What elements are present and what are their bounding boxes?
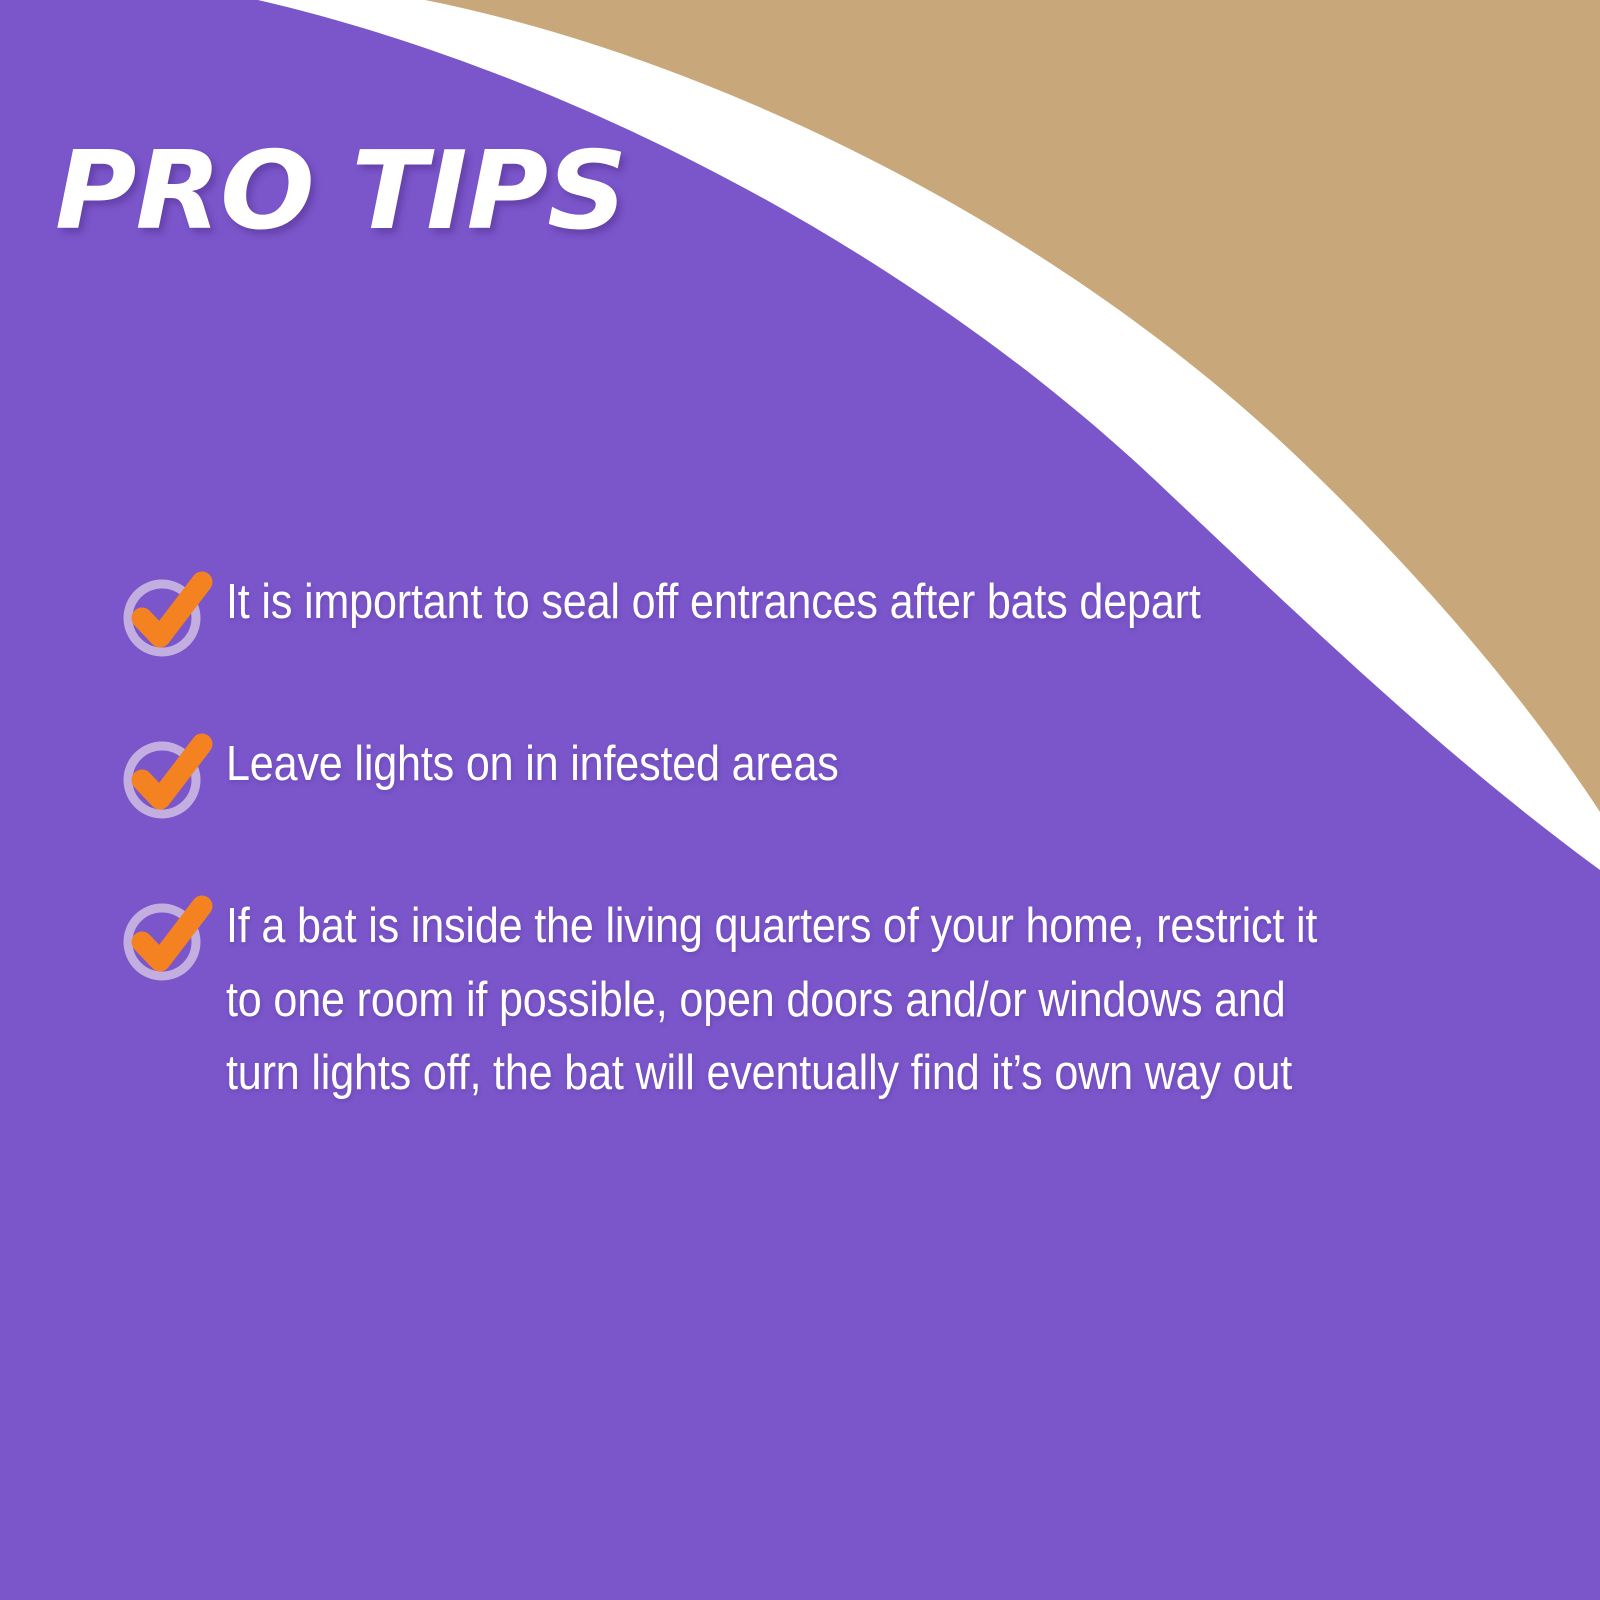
list-item-label: It is important to seal off entrances af… [226,566,1337,640]
list-item: If a bat is inside the living quarters o… [118,890,1488,1111]
tips-list: It is important to seal off entrances af… [118,566,1488,1111]
check-circle-icon [118,734,204,820]
check-circle-icon [118,896,204,982]
page-title: PRO TIPS [55,138,626,246]
list-item: It is important to seal off entrances af… [118,566,1488,658]
list-item-label: If a bat is inside the living quarters o… [226,890,1337,1111]
pro-tips-poster: PRO TIPS It is important to seal off ent… [0,0,1600,1600]
check-circle-icon [118,572,204,658]
list-item-label: Leave lights on in infested areas [226,728,1337,802]
list-item: Leave lights on in infested areas [118,728,1488,820]
